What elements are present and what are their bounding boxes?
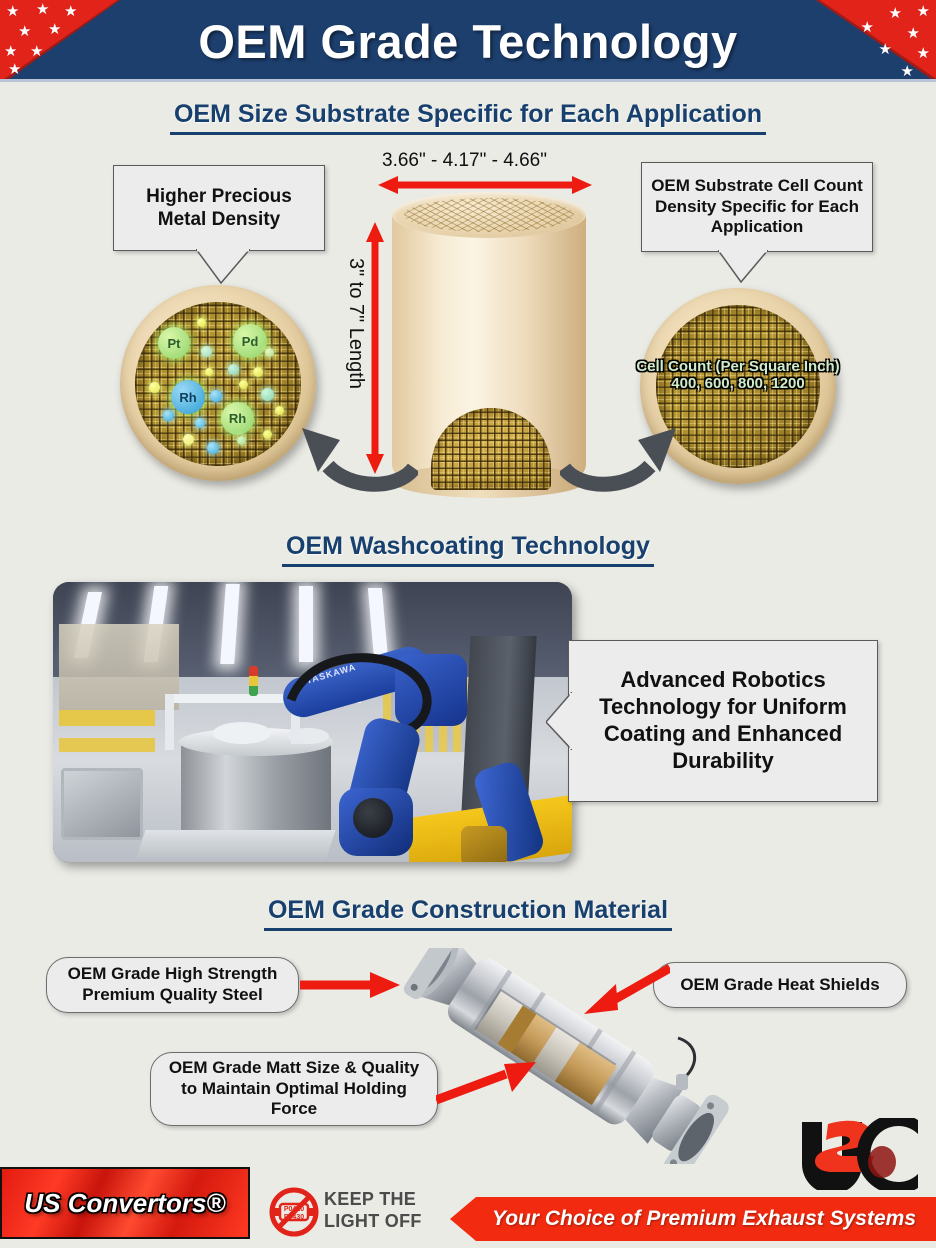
keep-light-off-icon: P0420 P0430 [268, 1186, 320, 1238]
robot-mount-bracket [461, 826, 507, 862]
usc-logo-icon [798, 1118, 926, 1190]
arrow-to-steel [300, 972, 400, 998]
metal-particle [275, 406, 284, 415]
substrate-cylinder [392, 192, 586, 492]
cylinder-top-face [392, 192, 586, 238]
cell-count-label: Cell Count (Per Square Inch) 400, 600, 8… [600, 358, 876, 393]
pm-symbol: Rh [179, 390, 196, 405]
diameter-label: 3.66" - 4.17" - 4.66" [382, 150, 547, 172]
callout-text: Higher Precious Metal Density [122, 185, 316, 231]
metal-particle [183, 434, 194, 445]
honeycomb-texture [431, 408, 551, 490]
length-label: 3" to 7" Length [344, 258, 367, 389]
section-title-substrate: OEM Size Substrate Specific for Each App… [0, 100, 936, 132]
callout-text: OEM Substrate Cell Count Density Specifi… [650, 176, 864, 238]
yellow-rail [59, 738, 155, 752]
andon-light-tower [249, 666, 258, 696]
control-cabinet [61, 768, 143, 840]
arrow-to-heat-shields [578, 962, 670, 1016]
callout-oem-substrate-cell-count: OEM Substrate Cell Count Density Specifi… [641, 162, 873, 252]
pm-symbol: Pd [242, 334, 259, 349]
substrate-disc-precious-metals: Pt Pd Rh Rh [120, 285, 316, 481]
cylinder-cutaway-honeycomb [431, 408, 551, 490]
precious-metal-rh-green: Rh [221, 402, 254, 435]
metal-particle [263, 430, 272, 439]
arrow-to-matt [436, 1062, 536, 1106]
tagline-banner: Your Choice of Premium Exhaust Systems [450, 1197, 936, 1241]
callout-text: OEM Grade Matt Size & Quality to Maintai… [159, 1058, 429, 1120]
callout-tail-left [196, 249, 250, 285]
robot-axis-hub [353, 798, 393, 838]
gantry-post [165, 694, 174, 750]
page-title: OEM Grade Technology [0, 0, 936, 82]
metal-particle [201, 346, 212, 357]
callout-high-strength-steel: OEM Grade High Strength Premium Quality … [46, 957, 299, 1013]
metal-particle [265, 348, 274, 357]
metal-particle [207, 442, 219, 454]
callout-text: OEM Grade Heat Shields [680, 975, 879, 996]
metal-particle [149, 382, 160, 393]
tagline-text: Your Choice of Premium Exhaust Systems [470, 1207, 916, 1231]
warehouse-pallets [59, 624, 179, 710]
metal-particle [261, 388, 274, 401]
callout-advanced-robotics: Advanced Robotics Technology for Uniform… [568, 640, 878, 802]
metal-particle [197, 318, 206, 327]
callout-tail-robotics [546, 692, 572, 750]
swoosh-arrow-left [288, 398, 418, 494]
callout-text: OEM Grade High Strength Premium Quality … [55, 964, 290, 1005]
page-header: ★ ★ ★ ★ ★ ★ ★ ★ OEM Grade Technology ★ ★… [0, 0, 936, 82]
metal-particle [237, 436, 246, 445]
precious-metal-pt: Pt [158, 327, 190, 359]
metal-particle [163, 410, 174, 421]
section-title-washcoating: OEM Washcoating Technology [0, 532, 936, 564]
keep-light-off-line2: LIGHT OFF [324, 1212, 422, 1230]
drum-port [213, 722, 271, 744]
metal-particle [195, 418, 205, 428]
section-title-washcoating-text: OEM Washcoating Technology [286, 532, 650, 564]
keep-light-off-line1: KEEP THE [324, 1190, 416, 1208]
metal-particle [210, 390, 222, 402]
honeycomb-texture [135, 302, 301, 466]
o2-sensor-wire [678, 1038, 695, 1078]
foreground-plate [133, 830, 336, 862]
yellow-rail [59, 710, 155, 726]
cell-count-values: 400, 600, 800, 1200 [600, 375, 876, 392]
header-divider [0, 79, 936, 82]
us-convertors-logo-box: US Convertors® [0, 1167, 250, 1239]
callout-text: Advanced Robotics Technology for Uniform… [577, 667, 869, 774]
section-title-construction: OEM Grade Construction Material [0, 896, 936, 928]
metal-particle [205, 368, 213, 376]
metal-particle [228, 364, 239, 375]
callout-matt-size-quality: OEM Grade Matt Size & Quality to Maintai… [150, 1052, 438, 1126]
metal-particle [239, 380, 248, 389]
metal-particle [253, 367, 263, 377]
section-title-construction-text: OEM Grade Construction Material [268, 896, 668, 928]
diameter-arrow [378, 176, 592, 194]
precious-metal-rh-blue: Rh [171, 380, 205, 414]
swoosh-arrow-right [560, 398, 690, 494]
pm-symbol: Rh [229, 411, 246, 426]
pm-symbol: Pt [168, 336, 181, 351]
callout-tail-right [718, 250, 768, 284]
precious-metal-pd: Pd [233, 324, 267, 358]
o2-sensor-body [676, 1074, 688, 1090]
callout-higher-precious-metal-density: Higher Precious Metal Density [113, 165, 325, 251]
cylinder-top-mesh [404, 198, 575, 232]
washcoating-robot-photo: YASKAWA [53, 582, 572, 862]
disc-honeycomb-face: Pt Pd Rh Rh [135, 302, 301, 466]
us-convertors-wordmark: US Convertors® [24, 1188, 225, 1219]
section-title-substrate-text: OEM Size Substrate Specific for Each App… [174, 100, 762, 132]
cell-count-heading: Cell Count (Per Square Inch) [600, 358, 876, 375]
callout-heat-shields: OEM Grade Heat Shields [653, 962, 907, 1008]
